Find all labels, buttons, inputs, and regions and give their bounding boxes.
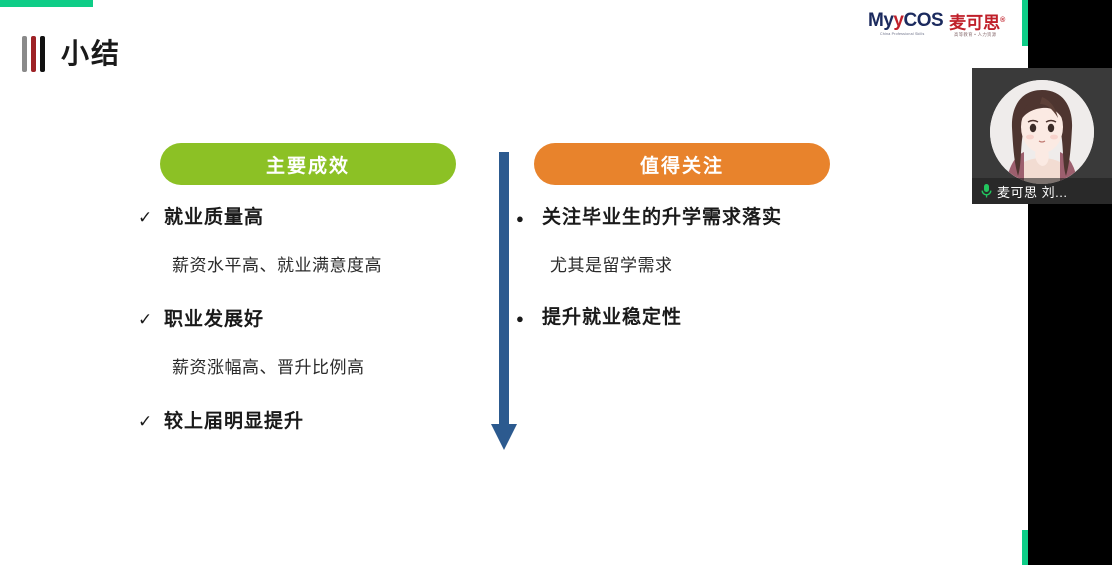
check-icon: ✓: [138, 209, 164, 226]
microphone-icon: [980, 183, 993, 199]
participant-name-bar: 麦可思 刘...: [972, 178, 1112, 204]
list-item: ✓ 较上届明显提升: [138, 412, 468, 431]
down-arrow-icon: [489, 152, 519, 452]
bullet-dot-icon: ●: [516, 312, 542, 325]
bullet-dot-icon: ●: [516, 212, 542, 225]
avatar: [990, 80, 1094, 184]
participant-name-label: 麦可思 刘...: [997, 182, 1067, 201]
shared-slide: 小结 MyyCOS 麦可思® China Professional Skills…: [0, 0, 1028, 565]
decorative-bar-top-left: [0, 0, 93, 7]
list-item-title: 职业发展好: [164, 310, 264, 329]
meeting-viewport: 小结 MyyCOS 麦可思® China Professional Skills…: [0, 0, 1112, 565]
list-item: ✓ 职业发展好: [138, 310, 468, 329]
logo-sub-latin: China Professional Skills: [880, 32, 925, 36]
list-item-title: 关注毕业生的升学需求落实: [542, 208, 782, 227]
column-body-watchpoints: ● 关注毕业生的升学需求落实 尤其是留学需求 ● 提升就业稳定性: [516, 208, 856, 327]
logo-sub-chinese: 高等教育 • 人力资源: [954, 32, 996, 38]
list-item-title: 就业质量高: [164, 208, 264, 227]
list-item-title: 较上届明显提升: [164, 412, 304, 431]
list-item-subtext: 薪资涨幅高、晋升比例高: [172, 359, 468, 376]
list-item-subtext: 薪资水平高、就业满意度高: [172, 257, 468, 274]
column-header-main-results: 主要成效: [160, 143, 456, 185]
logo-chinese-text: 麦可思®: [949, 11, 1005, 33]
decorative-bar-right-bottom: [1022, 530, 1028, 565]
title-accent-marks-icon: [22, 36, 45, 72]
logo-latin-text: MyyCOS: [868, 11, 943, 30]
list-item: ✓ 就业质量高: [138, 208, 468, 227]
list-item-title: 提升就业稳定性: [542, 308, 682, 327]
slide-title-block: 小结: [22, 36, 121, 72]
decorative-bar-right-top: [1022, 0, 1028, 46]
logo-y-accent-icon: y: [893, 10, 903, 31]
list-item: ● 提升就业稳定性: [516, 308, 856, 327]
list-item: ● 关注毕业生的升学需求落实: [516, 208, 856, 227]
logo-my: My: [868, 10, 893, 31]
logo-trademark: ®: [1000, 17, 1005, 24]
check-icon: ✓: [138, 413, 164, 430]
column-header-watchpoints: 值得关注: [534, 143, 830, 185]
mycos-brand-logo: MyyCOS 麦可思® China Professional Skills 高等…: [868, 11, 1016, 41]
column-body-main-results: ✓ 就业质量高 薪资水平高、就业满意度高 ✓ 职业发展好 薪资涨幅高、晋升比例高…: [138, 208, 468, 431]
page-title: 小结: [61, 40, 121, 68]
list-item-subtext: 尤其是留学需求: [550, 257, 856, 274]
logo-cos: COS: [903, 10, 943, 31]
participant-video-tile[interactable]: 麦可思 刘...: [972, 68, 1112, 204]
check-icon: ✓: [138, 311, 164, 328]
logo-chinese-chars: 麦可思: [949, 14, 1000, 33]
